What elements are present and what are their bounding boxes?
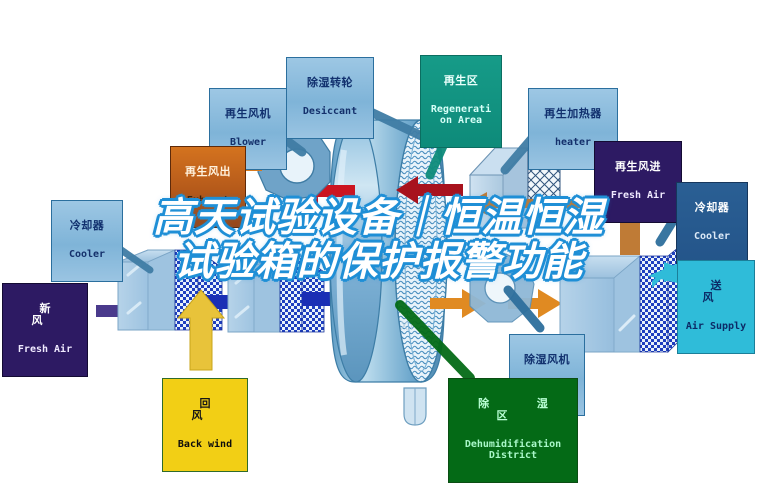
dehumidification-district-label-cn: 除 湿 区 [453,398,573,422]
air-supply-label-cn: 送 风 [682,280,750,304]
desiccant-rotor-label-cn: 除湿转轮 [291,77,369,89]
cooler-left-label-en: Cooler [56,250,118,261]
cooler-right-label[interactable]: 冷却器 Cooler [676,182,748,264]
desiccant-rotor-label[interactable]: 除湿转轮 Desiccant [286,57,374,139]
cooler-second-label[interactable]: 冷却器 [144,196,204,247]
fresh-air-inlet-label-en: Fresh Air [7,345,83,356]
regeneration-area-label[interactable]: 再生区 Regenerati on Area [420,55,502,148]
regeneration-fresh-air-label[interactable]: 再生风进 Fresh Air [594,141,682,223]
fresh-air-inlet-label-cn: 新 风 [7,303,83,327]
desiccant-rotor-label-en: Desiccant [291,107,369,118]
dehumidification-district-label[interactable]: 除 湿 区 Dehumidification District [448,378,578,483]
regeneration-area-label-cn: 再生区 [425,75,497,87]
regeneration-area-label-en: Regenerati on Area [425,105,497,127]
dehumidification-system-diagram: XT [0,0,757,488]
cooler-left-label-cn: 冷却器 [56,220,118,232]
back-wind-label[interactable]: 回 风 Back wind [162,378,248,472]
regeneration-fresh-air-label-en: Fresh Air [599,191,677,202]
dehumidification-blower-label-cn: 除湿风机 [514,354,580,366]
cooler-second-label-cn: 冷却器 [148,215,200,227]
back-wind-label-cn: 回 风 [167,398,243,422]
back-wind-label-en: Back wind [167,440,243,451]
regeneration-heater-label-cn: 再生加热器 [533,108,613,120]
regeneration-exhaust-label-cn: 再生风出 [175,166,241,178]
dehumidification-district-label-en: Dehumidification District [453,440,573,462]
regeneration-fresh-air-label-cn: 再生风进 [599,161,677,173]
regeneration-blower-label-cn: 再生风机 [214,108,282,120]
air-supply-label[interactable]: 送 风 Air Supply [677,260,755,354]
cooler-left-label[interactable]: 冷却器 Cooler [51,200,123,282]
fresh-air-inlet-label[interactable]: 新 风 Fresh Air [2,283,88,377]
air-supply-label-en: Air Supply [682,322,750,333]
cooler-right-label-en: Cooler [681,232,743,243]
cooler-right-label-cn: 冷却器 [681,202,743,214]
